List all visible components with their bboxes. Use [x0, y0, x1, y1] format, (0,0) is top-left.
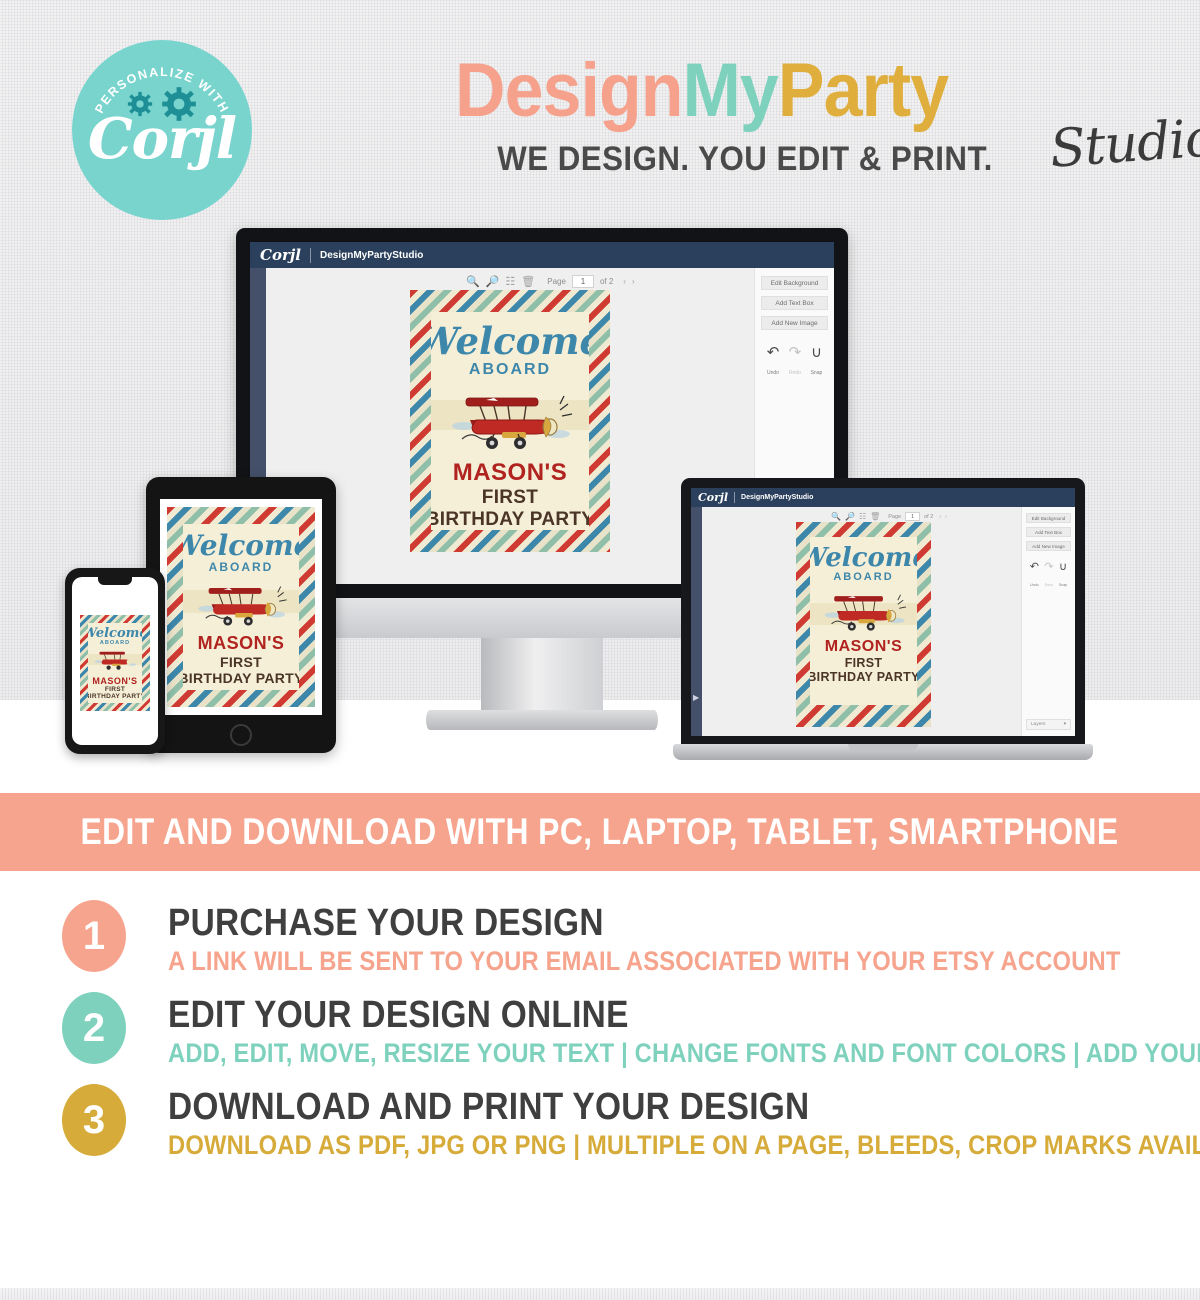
editor-brand-name: DesignMyPartyStudio: [320, 250, 423, 261]
biplane-icon: [442, 382, 578, 452]
editor-right-panel: Edit Background Add Text Box Add New Ima…: [1021, 507, 1075, 736]
redo-icon: ↷: [789, 343, 802, 361]
invitation-name: MASON'S: [198, 633, 285, 654]
step-number-badge: 3: [62, 1084, 126, 1156]
tablet-device: Welcome ABOARD: [146, 477, 336, 753]
page-total-label: of 2: [600, 277, 613, 286]
add-text-box-button[interactable]: Add Text Box: [1026, 527, 1071, 537]
step-item: 2 EDIT YOUR DESIGN ONLINE ADD, EDIT, MOV…: [0, 992, 1200, 1070]
step-title: DOWNLOAD AND PRINT YOUR DESIGN: [168, 1086, 1200, 1128]
step-body: PURCHASE YOUR DESIGN A LINK WILL BE SENT…: [168, 900, 1200, 978]
redo-tool[interactable]: ↷ Redo: [789, 343, 802, 379]
biplane-icon: [818, 585, 910, 633]
personalize-with-corjl-badge: PERSONALIZE WITH: [72, 40, 252, 220]
snap-label: Snap: [811, 370, 823, 376]
step-title: EDIT YOUR DESIGN ONLINE: [168, 994, 1200, 1036]
snap-tool[interactable]: ∪ Snap: [811, 343, 823, 379]
invitation-inner-panel: Welcome ABOARD: [183, 524, 299, 690]
bottom-texture-strip: [0, 1288, 1200, 1300]
topbar-divider: [734, 492, 735, 503]
editor-tool-row: ↶ Undo ↷ Redo ∪ Snap: [762, 343, 827, 379]
invitation-welcome: Welcome: [88, 627, 142, 640]
editor-topbar: Corjl DesignMyPartyStudio: [250, 242, 834, 268]
tablet-home-button[interactable]: [230, 724, 252, 746]
steps-section: 1 PURCHASE YOUR DESIGN A LINK WILL BE SE…: [0, 900, 1200, 1176]
duplicate-icon[interactable]: ☷: [859, 512, 866, 521]
step-body: EDIT YOUR DESIGN ONLINE ADD, EDIT, MOVE,…: [168, 992, 1200, 1070]
trash-icon[interactable]: 🗑: [870, 512, 880, 521]
rail-expand-icon[interactable]: ▶: [693, 693, 699, 702]
invitation-artwork[interactable]: Welcome ABOARD: [796, 522, 931, 727]
zoom-out-icon[interactable]: 🔎: [486, 275, 500, 288]
editor-toolbar: 🔍 🔎 ☷ 🗑 Page 1 of 2 ‹ ›: [466, 275, 635, 288]
invitation-welcome: Welcome: [183, 532, 299, 560]
step-title: PURCHASE YOUR DESIGN: [168, 902, 1121, 944]
edit-background-button[interactable]: Edit Background: [761, 276, 828, 290]
undo-icon: ↶: [767, 343, 780, 361]
step-item: 3 DOWNLOAD AND PRINT YOUR DESIGN DOWNLOA…: [0, 1084, 1200, 1162]
brand-script-studio: Studio: [1048, 108, 1200, 179]
laptop-device: Corjl DesignMyPartyStudio ▶ 🔍 🔎 ☷ 🗑 Page…: [673, 478, 1093, 778]
brand-title: DesignMyParty: [455, 52, 1117, 130]
invitation-name: MASON'S: [453, 459, 568, 487]
duplicate-icon[interactable]: ☷: [505, 275, 515, 288]
phone-screen: Welcome ABOARD: [72, 577, 158, 745]
step-item: 1 PURCHASE YOUR DESIGN A LINK WILL BE SE…: [0, 900, 1200, 978]
undo-tool[interactable]: ↶ Undo: [1030, 560, 1039, 591]
add-text-box-button[interactable]: Add Text Box: [761, 296, 828, 310]
step-number-badge: 1: [62, 900, 126, 972]
snap-icon: ∪: [1059, 560, 1067, 573]
invitation-aboard: ABOARD: [833, 571, 893, 583]
editor-toolbar: 🔍 🔎 ☷ 🗑 Page 1 of 2 ‹ ›: [831, 512, 947, 521]
invitation-inner-panel: Welcome ABOARD: [810, 537, 917, 705]
corjl-logo[interactable]: Corjl: [698, 491, 728, 504]
invitation-inner-panel: Welcome ABOARD: [431, 312, 589, 530]
biplane-illustration: [191, 576, 291, 633]
prev-page-icon[interactable]: ‹: [623, 277, 626, 286]
brand-header: DesignMyParty Studio WE DESIGN. YOU EDIT…: [455, 52, 1175, 179]
invitation-line1: FIRST: [105, 686, 125, 693]
editor-topbar: Corjl DesignMyPartyStudio: [691, 488, 1075, 507]
invitation-artwork[interactable]: Welcome ABOARD: [410, 290, 610, 552]
snap-icon: ∪: [811, 343, 823, 361]
editor-brand-name: DesignMyPartyStudio: [741, 494, 813, 501]
monitor-neck: [481, 638, 603, 716]
invitation-line1: FIRST: [220, 654, 262, 670]
undo-icon: ↶: [1030, 560, 1039, 573]
zoom-out-icon[interactable]: 🔎: [845, 512, 855, 521]
invitation-name: MASON'S: [92, 676, 137, 686]
editor-left-rail[interactable]: ▶: [691, 507, 702, 736]
page-total-label: of 2: [924, 514, 933, 520]
biplane-illustration: [442, 382, 578, 457]
page-label: Page: [547, 277, 566, 286]
undo-label: Undo: [767, 370, 779, 376]
smartphone-device: Welcome ABOARD: [65, 568, 165, 754]
redo-icon: ↷: [1044, 560, 1053, 573]
zoom-in-icon[interactable]: 🔍: [466, 275, 480, 288]
invitation-line2: BIRTHDAY PARTY: [88, 693, 142, 700]
invitation-welcome: Welcome: [810, 545, 917, 571]
step-subtitle: DOWNLOAD AS PDF, JPG OR PNG | MULTIPLE O…: [168, 1128, 1200, 1162]
laptop-screen: Corjl DesignMyPartyStudio ▶ 🔍 🔎 ☷ 🗑 Page…: [691, 488, 1075, 736]
biplane-illustration: [818, 585, 910, 638]
monitor-foot: [426, 710, 658, 730]
zoom-in-icon[interactable]: 🔍: [831, 512, 841, 521]
prev-page-icon[interactable]: ‹: [939, 514, 941, 520]
layers-panel-toggle[interactable]: Layers ▾: [1026, 719, 1071, 730]
devices-banner: EDIT AND DOWNLOAD WITH PC, LAPTOP, TABLE…: [0, 793, 1200, 871]
page-number-input[interactable]: 1: [905, 512, 920, 521]
step-subtitle: A LINK WILL BE SENT TO YOUR EMAIL ASSOCI…: [168, 944, 1121, 978]
next-page-icon[interactable]: ›: [945, 514, 947, 520]
invitation-line2: BIRTHDAY PARTY: [431, 509, 589, 530]
invitation-line2: BIRTHDAY PARTY: [810, 670, 917, 684]
page-number-input[interactable]: 1: [572, 275, 594, 288]
chevron-down-icon: ▾: [1064, 722, 1066, 727]
laptop-base-notch: [848, 744, 918, 751]
editor-tool-row: ↶ Undo ↷ Redo ∪ Snap: [1027, 560, 1070, 591]
step-body: DOWNLOAD AND PRINT YOUR DESIGN DOWNLOAD …: [168, 1084, 1200, 1162]
step-subtitle: ADD, EDIT, MOVE, RESIZE YOUR TEXT | CHAN…: [168, 1036, 1200, 1070]
biplane-illustration: [91, 646, 139, 676]
snap-tool[interactable]: ∪ Snap: [1059, 560, 1067, 591]
invitation-line1: FIRST: [482, 487, 538, 509]
layers-label: Layers: [1031, 722, 1045, 727]
topbar-divider: [310, 248, 311, 263]
add-new-image-button[interactable]: Add New Image: [761, 316, 828, 330]
brand-part-party: Party: [778, 48, 948, 133]
corjl-logo[interactable]: Corjl: [260, 246, 301, 264]
page-label: Page: [888, 514, 901, 520]
invitation-aboard: ABOARD: [469, 361, 551, 379]
invitation-line2: BIRTHDAY PARTY: [183, 670, 299, 686]
invitation-aboard: ABOARD: [209, 560, 274, 574]
add-new-image-button[interactable]: Add New Image: [1026, 541, 1071, 551]
trash-icon[interactable]: 🗑: [521, 275, 535, 288]
brand-part-design: Design: [455, 48, 683, 133]
step-number-badge: 2: [62, 992, 126, 1064]
tablet-screen: Welcome ABOARD: [160, 499, 322, 715]
biplane-icon: [91, 646, 139, 671]
next-page-icon[interactable]: ›: [632, 277, 635, 286]
invitation-welcome: Welcome: [431, 323, 589, 360]
brand-tagline: WE DESIGN. YOU EDIT & PRINT.: [478, 140, 1012, 179]
corjl-editor-laptop: Corjl DesignMyPartyStudio ▶ 🔍 🔎 ☷ 🗑 Page…: [691, 488, 1075, 736]
banner-text: EDIT AND DOWNLOAD WITH PC, LAPTOP, TABLE…: [81, 811, 1119, 853]
undo-label: Undo: [1030, 583, 1039, 587]
invitation-artwork[interactable]: Welcome ABOARD: [80, 615, 150, 711]
undo-tool[interactable]: ↶ Undo: [767, 343, 780, 379]
brand-part-my: My: [683, 48, 778, 133]
redo-tool[interactable]: ↷ Redo: [1044, 560, 1053, 591]
snap-label: Snap: [1059, 583, 1067, 587]
phone-notch: [98, 577, 132, 585]
invitation-artwork[interactable]: Welcome ABOARD: [167, 507, 315, 707]
invitation-name: MASON'S: [825, 638, 903, 656]
edit-background-button[interactable]: Edit Background: [1026, 513, 1071, 523]
invitation-inner-panel: Welcome ABOARD: [88, 623, 142, 703]
redo-label: Redo: [1045, 583, 1054, 587]
biplane-icon: [191, 576, 291, 628]
invitation-line1: FIRST: [845, 656, 883, 670]
redo-label: Redo: [789, 370, 801, 376]
corjl-wordmark: Corjl: [72, 106, 252, 172]
